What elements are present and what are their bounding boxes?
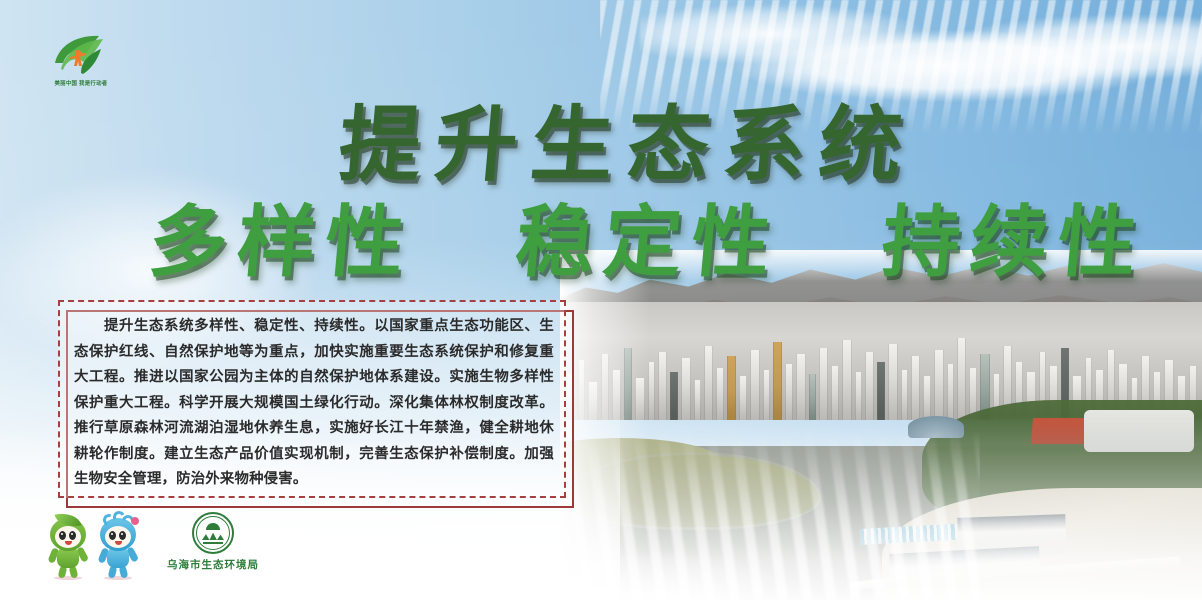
leaf-runner-icon — [51, 33, 111, 77]
mascot-right-eye — [69, 531, 76, 540]
cloud-swirl-icon — [103, 511, 133, 527]
cityscape-photo — [560, 250, 1202, 600]
department-name: 乌海市生态环境局 — [158, 557, 268, 572]
brand-logo: 美丽中国 我是行动者 — [42, 33, 120, 87]
emblem-sun — [206, 523, 220, 530]
mascot-left-eye — [59, 531, 66, 540]
green-leaf-mascot — [44, 512, 92, 578]
emblem-mountains — [202, 531, 224, 540]
government-emblem-icon — [192, 512, 234, 554]
department-block: 乌海市生态环境局 — [158, 512, 268, 572]
brand-caption: 美丽中国 我是行动者 — [42, 79, 120, 87]
blue-cloud-mascot — [94, 512, 142, 578]
body-text-frame: 提升生态系统多样性、稳定性、持续性。以国家重点生态功能区、生态保护红线、自然保护… — [58, 300, 578, 510]
photo-edge-fade — [560, 250, 1202, 600]
mascot-pair — [44, 512, 156, 578]
emblem-core — [201, 521, 225, 545]
mascot-right-eye — [119, 531, 126, 540]
emblem-base — [203, 542, 223, 545]
cloud-streaks — [600, 0, 1202, 135]
pink-flower-icon — [131, 517, 139, 525]
mascot-left-eye — [109, 531, 116, 540]
eco-poster: 美丽中国 我是行动者 提升生态系统 多样性 稳定性 持续性 提升生态系统多样性、… — [0, 0, 1202, 600]
frame-inner-dashed-border: 提升生态系统多样性、稳定性、持续性。以国家重点生态功能区、生态保护红线、自然保护… — [58, 300, 566, 498]
body-paragraph: 提升生态系统多样性、稳定性、持续性。以国家重点生态功能区、生态保护红线、自然保护… — [74, 314, 554, 493]
